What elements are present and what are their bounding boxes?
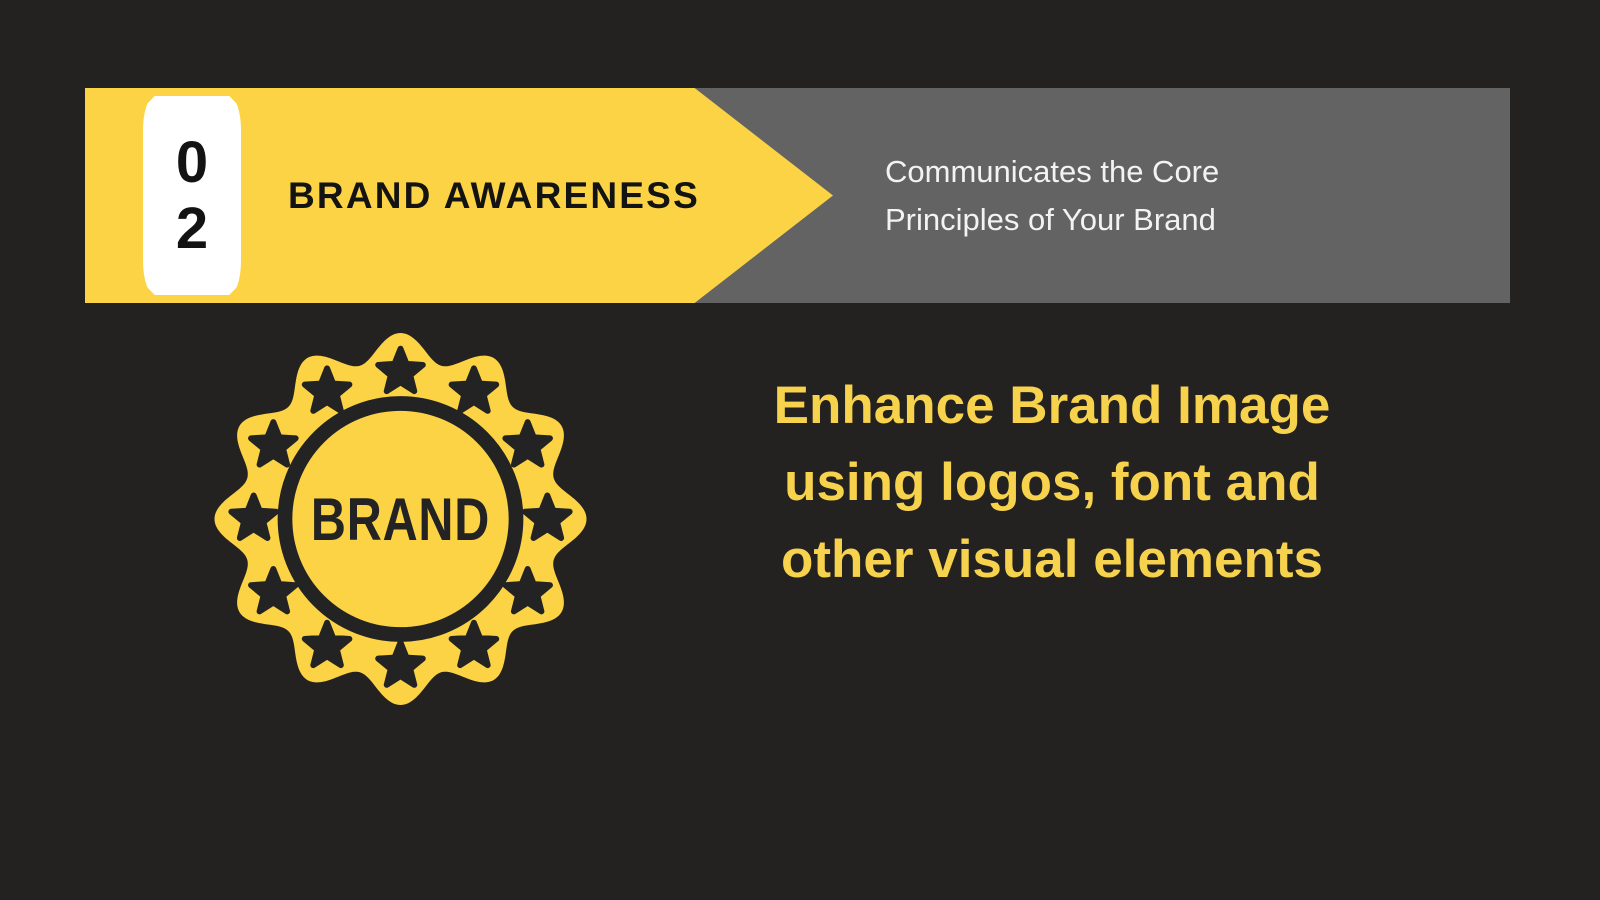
headline-line-1: Enhance Brand Image bbox=[742, 368, 1362, 445]
header-banner: 0 2 BRAND AWARENESS Communicates the Cor… bbox=[85, 88, 1510, 303]
banner-title: BRAND AWARENESS bbox=[288, 88, 700, 303]
banner-subtitle: Communicates the Core Principles of Your… bbox=[885, 88, 1445, 303]
slide-canvas: 0 2 BRAND AWARENESS Communicates the Cor… bbox=[0, 0, 1600, 900]
step-digit-first: 0 bbox=[176, 135, 208, 190]
banner-subtitle-line-2: Principles of Your Brand bbox=[885, 196, 1445, 243]
brand-award-seal-icon: BRAND bbox=[203, 333, 598, 705]
step-number-chip: 0 2 bbox=[143, 96, 241, 295]
step-digit-second: 2 bbox=[176, 201, 208, 256]
banner-subtitle-line-1: Communicates the Core bbox=[885, 148, 1445, 195]
headline-line-3: other visual elements bbox=[742, 522, 1362, 599]
headline-text: Enhance Brand Image using logos, font an… bbox=[742, 368, 1362, 599]
seal-label: BRAND bbox=[311, 485, 490, 553]
headline-line-2: using logos, font and bbox=[742, 445, 1362, 522]
